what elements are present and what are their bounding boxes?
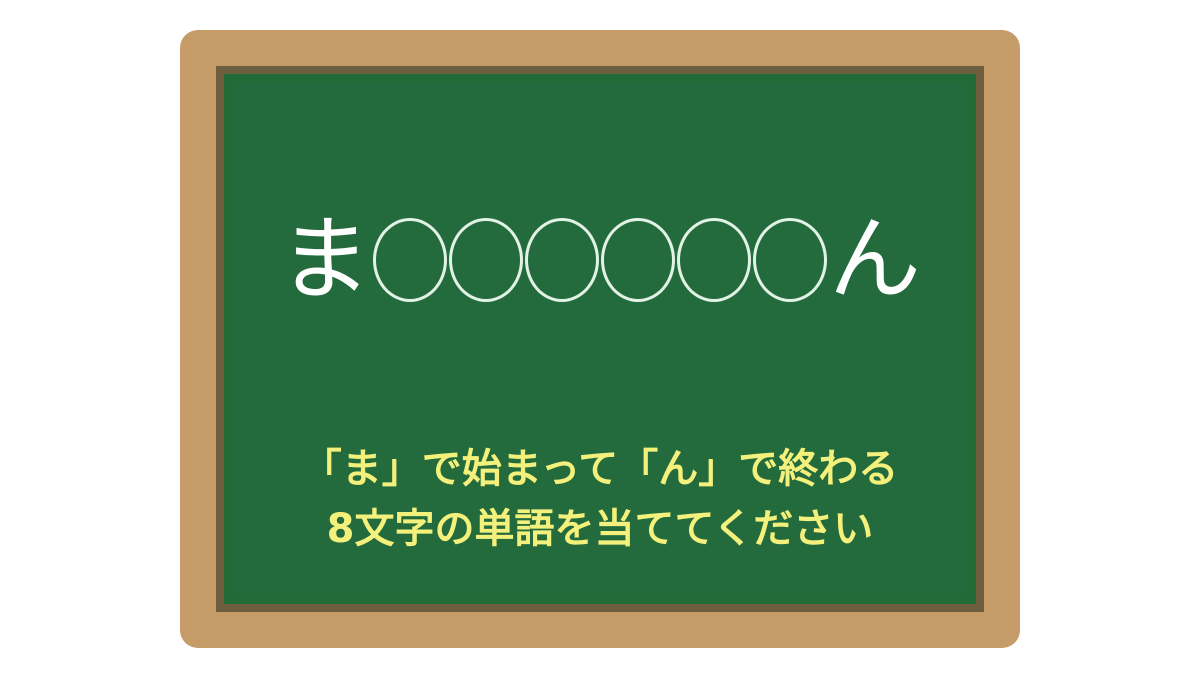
puzzle-slot-blank-6[interactable] <box>753 218 827 302</box>
blackboard-frame: ま ん 「ま」で始まって「ん」で終わる 8文字の単語を当ててください <box>180 30 1020 648</box>
screenshot-canvas: ま ん 「ま」で始まって「ん」で終わる 8文字の単語を当ててください <box>0 0 1200 700</box>
puzzle-slot-first-kana: ま <box>279 214 371 306</box>
hint-line-2: 8文字の単語を当ててください <box>234 499 966 559</box>
puzzle-slot-blank-4[interactable] <box>601 218 675 302</box>
blackboard-bevel: ま ん 「ま」で始まって「ん」で終わる 8文字の単語を当ててください <box>216 66 984 612</box>
puzzle-slot-blank-5[interactable] <box>677 218 751 302</box>
hint-line-1: 「ま」で始まって「ん」で終わる <box>234 439 966 499</box>
puzzle-slot-last-kana: ん <box>829 214 921 306</box>
puzzle-word-row: ま ん <box>234 214 966 306</box>
blackboard-surface: ま ん 「ま」で始まって「ん」で終わる 8文字の単語を当ててください <box>224 74 976 604</box>
puzzle-slot-blank-3[interactable] <box>525 218 599 302</box>
hint-text-block: 「ま」で始まって「ん」で終わる 8文字の単語を当ててください <box>234 439 966 559</box>
puzzle-slot-blank-1[interactable] <box>373 218 447 302</box>
blackboard-writing-field: ま ん 「ま」で始まって「ん」で終わる 8文字の単語を当ててください <box>234 84 966 594</box>
puzzle-slot-blank-2[interactable] <box>449 218 523 302</box>
